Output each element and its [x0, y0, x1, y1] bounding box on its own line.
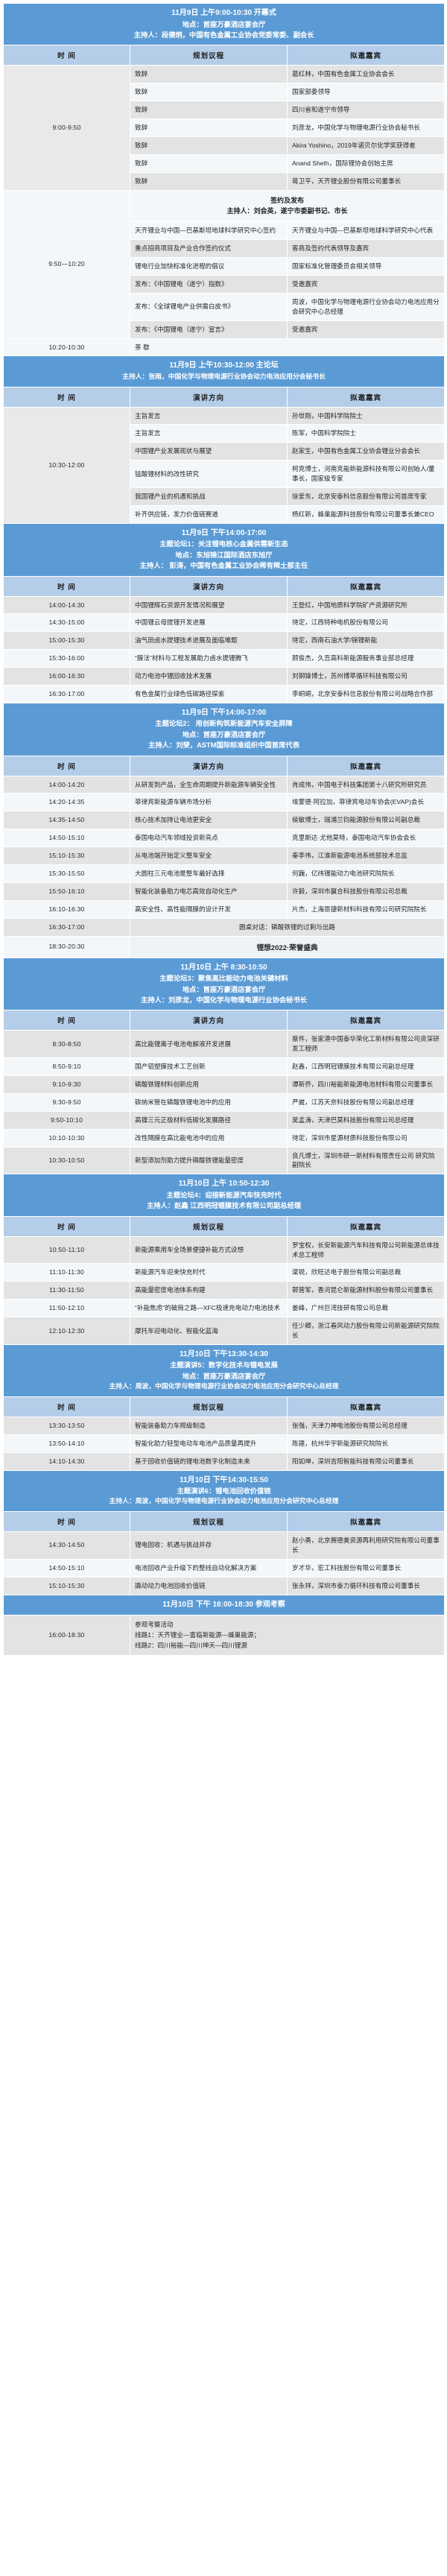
guest-name: 许毅，深圳市赢合科技股份有限公司总裁 [288, 882, 445, 900]
time-cell: 8:30-8:50 [4, 1031, 130, 1058]
table-row: 15:30-15:50大圆柱三元电池是整车最好选择何巍，亿纬锂能动力电池研究院院… [4, 865, 445, 883]
banner-line: 地点：东旭锦江国际酒店东旭厅 [8, 550, 440, 560]
table-row: 9:50—10:20签约及发布主持人：刘会英，遂宁市委副书记、市长 [4, 190, 445, 222]
guest-name: 阳如坤，深圳吉阳智能科技有限公司董事长 [288, 1452, 445, 1470]
banner-line: 主题演讲5：数字化技术与锂电发展 [8, 1360, 440, 1370]
agenda-item: 高安全性、高性能隔膜的设计开发 [130, 900, 288, 918]
banner-line: 11月9日 上午9:00-10:30 开幕式 [8, 7, 440, 19]
table-row: 13:30-13:50智能装备助力车规级制造张强，天津力神电池股份有限公司总经理 [4, 1417, 445, 1434]
section-banner: 11月10日 上午 10:50-12:30主题论坛4：迎接新能源汽车快充时代主持… [4, 1174, 445, 1216]
column-header: 规划议程 [130, 1396, 288, 1417]
table-row: 9:30-9:50碳纳米管在磷酸铁锂电池中的应用严崴，江苏天奈科技股份有限公司副… [4, 1093, 445, 1111]
sub-banner: 签约及发布主持人：刘会英，遂宁市委副书记、市长 [130, 190, 445, 222]
time-cell: 13:30-13:50 [4, 1417, 130, 1434]
agenda-item: 撬动动力电池回收价值链 [130, 1577, 288, 1595]
table-row: 14:10-14:30基于回收价值链的锂电池数字化制造未来阳如坤，深圳吉阳智能科… [4, 1452, 445, 1470]
time-cell: 12:10-12:30 [4, 1317, 130, 1345]
banner-line: 11月10日 下午13:30-14:30 [8, 1349, 440, 1361]
time-cell: 14:30-14:50 [4, 1532, 130, 1560]
guest-name: 国家标准化管理委员会相关领导 [288, 258, 445, 276]
agenda-item: 中国锂辉石资源开发情况和展望 [130, 596, 288, 614]
guest-name: 良凡博士，深圳市研一新材料有限责任公司 研究院副院长 [288, 1147, 445, 1174]
time-cell: 9:50-10:10 [4, 1111, 130, 1129]
agenda-item: 泰国电动汽车领域投资新亮点 [130, 829, 288, 847]
column-header: 时 间 [4, 1512, 130, 1532]
agenda-item: 补齐供应链，发力价值链赛道 [130, 505, 288, 523]
agenda-item: 高能量密度电池体系构建 [130, 1282, 288, 1300]
table-row: 10:50-11:10新能源乘用车全场景便捷补能方式设想罗宝权，长安新能源汽车科… [4, 1236, 445, 1264]
agenda-item: 致辞 [130, 118, 288, 136]
guest-name: 何巍，亿纬锂能动力电池研究院院长 [288, 865, 445, 883]
column-header: 演讲方向 [130, 1010, 288, 1031]
time-cell: 11:50-12:10 [4, 1300, 130, 1317]
time-cell: 10:20-10:30 [4, 338, 130, 356]
banner-line: 主持人：段德炳，中国有色金属工业协会党委常委、副会长 [8, 30, 440, 40]
guest-name: 待定，江西特种电机股份有限公司 [288, 614, 445, 632]
gala-title: 锂想2022·荣誉盛典 [130, 936, 445, 958]
agenda-item: 中国锂产业发展现状与展望 [130, 443, 288, 461]
banner-line: 主题论坛1：关注锂电核心金属供需新生态 [8, 539, 440, 549]
section-banner: 11月10日 上午 8:30-10:50主题论坛3：聚焦高比能动力电池关键材料地… [4, 958, 445, 1010]
guest-name: 蔡件，张家港中国泰华荣化工新材料有限公司资深研发工程师 [288, 1031, 445, 1058]
agenda-item: 新能源汽车迎来快充时代 [130, 1264, 288, 1282]
guest-name: 葛红林，中国有色金属工业协会会长 [288, 66, 445, 83]
agenda-item: 圆桌对话：磷酸铁锂的过剩与出路 [130, 918, 445, 936]
guest-name: 蒋卫平，天齐锂业股份有限公司董事长 [288, 172, 445, 190]
guest-name: 吴孟涛，天津巴莫科技股份有限公司总经理 [288, 1111, 445, 1129]
agenda-item: 致辞 [130, 154, 288, 172]
section-banner: 11月9日 下午14:00-17:00主题论坛1：关注锂电核心金属供需新生态地点… [4, 523, 445, 576]
guest-name: 罗宝权，长安新能源汽车科技有限公司新能源总体技术总工程师 [288, 1236, 445, 1264]
table-row: 15:10-15:30撬动动力电池回收价值链张永祥，深圳市泰力循环科技有限公司董… [4, 1577, 445, 1595]
table-row: 16:10-16:30高安全性、高性能隔膜的设计开发片杰，上海恩捷新材料科技有限… [4, 900, 445, 918]
time-cell: 10:30-12:00 [4, 407, 130, 523]
time-cell: 16:00-18:30 [4, 1615, 130, 1656]
agenda-item: 从研发到产品，全生命周期提升新能源车辆安全性 [130, 776, 288, 794]
column-header: 时 间 [4, 387, 130, 407]
table-row: 14:35-14:50核心技术加持让电池更安全侯敏博士，瑞浦兰钧能源股份有限公司… [4, 811, 445, 829]
time-cell: 15:10-15:30 [4, 847, 130, 865]
agenda-item: 重点招商项目及产业合作签约仪式 [130, 240, 288, 258]
agenda-item: 油气田卤水提锂技术进展及面临难题 [130, 632, 288, 650]
table-row: 10:10-10:30改性隔膜在高比能电池中的应用待定，深圳市星源材质科技股份有… [4, 1129, 445, 1147]
time-cell: 10:10-10:30 [4, 1129, 130, 1147]
guest-name: 周波，中国化学与物理电源行业协会动力电池应用分会研究中心总经理 [288, 293, 445, 320]
agenda-item: 菲律宾新能源车辆市场分析 [130, 794, 288, 811]
column-header: 时 间 [4, 45, 130, 66]
time-cell: 9:50—10:20 [4, 190, 130, 338]
guest-name: 姜峰，广州巨湾技研有限公司总裁 [288, 1300, 445, 1317]
table-row: 16:00-16:30动力电池中锂回收技术发展刘钢锋博士，苏州博萃循环科技有限公… [4, 668, 445, 686]
banner-line: 主题论坛2： 用创新构筑新能源汽车安全屏障 [8, 718, 440, 729]
table-row: 8:50-9:10国产铝塑膜技术工艺创新赵鑫，江西明冠锂膜技术有限公司副总经理 [4, 1058, 445, 1076]
time-cell: 16:00-16:30 [4, 668, 130, 686]
conference-agenda: 11月9日 上午9:00-10:30 开幕式地点：首座万豪酒店宴会厅主持人：段德… [0, 0, 447, 1657]
time-cell: 15:30-16:00 [4, 650, 130, 668]
banner-line: 主题论坛3：聚焦高比能动力电池关键材料 [8, 973, 440, 984]
time-cell: 8:50-9:10 [4, 1058, 130, 1076]
time-cell: 15:00-15:30 [4, 632, 130, 650]
banner-line: 11月10日 下午 16:00-18:30 参观考察 [8, 1599, 440, 1611]
time-cell: 14:35-14:50 [4, 811, 130, 829]
time-cell: 14:20-14:35 [4, 794, 130, 811]
table-row: 14:30-14:50锂电回收：机遇与挑战并存赵小勇，北京赛德美资源再利用研究院… [4, 1532, 445, 1560]
table-row: 13:50-14:10智能化助力轻型电动车电池产品质量再提升陈建，杭州华宇新能源… [4, 1434, 445, 1452]
banner-line: 地点：首座万豪酒店宴会厅 [8, 1371, 440, 1382]
agenda-item: 新型添加剂助力提升磷酸铁锂能量密度 [130, 1147, 288, 1174]
banner-line: 11月9日 上午10:30-12:00 主论坛 [8, 360, 440, 372]
agenda-item: 智能化助力轻型电动车电池产品质量再提升 [130, 1434, 288, 1452]
column-header: 演讲方向 [130, 756, 288, 776]
guest-name: 陈建，杭州华宇新能源研究院院长 [288, 1434, 445, 1452]
agenda-item: 摩托车迎电动化、智能化蓝海 [130, 1317, 288, 1345]
agenda-item: 致辞 [130, 172, 288, 190]
column-header: 规划议程 [130, 1216, 288, 1236]
guest-name: 待定，西南石油大学/锦锂新能 [288, 632, 445, 650]
agenda-item: 致辞 [130, 66, 288, 83]
guest-name: 天齐锂业与中国—巴基斯坦地球科学研究中心代表 [288, 222, 445, 240]
agenda-item: “膜法”材料与工程发展助力卤水提锂腾飞 [130, 650, 288, 668]
guest-name: 王登红，中国地质科学院矿产资源研究所 [288, 596, 445, 614]
section-banner: 11月10日 下午 16:00-18:30 参观考察 [4, 1595, 445, 1615]
time-cell: 14:30-15:00 [4, 614, 130, 632]
table-row: 15:30-16:00“膜法”材料与工程发展助力卤水提锂腾飞顾俊杰，久吾高科新能… [4, 650, 445, 668]
section-banner: 11月9日 上午9:00-10:30 开幕式地点：首座万豪酒店宴会厅主持人：段德… [4, 4, 445, 45]
banner-line: 主题论坛4：迎接新能源汽车快充时代 [8, 1190, 440, 1200]
column-header: 规划议程 [130, 1512, 288, 1532]
agenda-item: 发布：《中国锂电（遂宁）指数》 [130, 276, 288, 294]
agenda-item: 大圆柱三元电池是整车最好选择 [130, 865, 288, 883]
table-row: 16:00-18:30参观考察活动 线路1：天齐锂业—富临新能源—蜂巢能源； 线… [4, 1615, 445, 1656]
guest-name: 国家部委领导 [288, 83, 445, 101]
guest-name: Akira Yoshino，2019年诺贝尔化学奖获得者 [288, 136, 445, 154]
guest-name: 赵鑫，江西明冠锂膜技术有限公司副总经理 [288, 1058, 445, 1076]
guest-name: Anand Sheth，国际锂协会创始主席 [288, 154, 445, 172]
agenda-item: 高镍三元正极材料低碳化发展路径 [130, 1111, 288, 1129]
agenda-item: “补能焦虑”的破局之路—XFC极速充电动力电池技术 [130, 1300, 288, 1317]
time-cell: 18:30-20:30 [4, 936, 130, 958]
guest-name: 克里斯达·尤他莫特，泰国电动汽车协会会长 [288, 829, 445, 847]
agenda-item: 中国锂云母提锂开发进展 [130, 614, 288, 632]
guest-name: 顾俊杰，久吾高科新能源服务事业部总经理 [288, 650, 445, 668]
agenda-item: 发布：《全球锂电产业供需白皮书》 [130, 293, 288, 320]
column-header: 拟邀嘉宾 [288, 1216, 445, 1236]
table-row: 16:30-17:00圆桌对话：磷酸铁锂的过剩与出路 [4, 918, 445, 936]
column-header: 拟邀嘉宾 [288, 576, 445, 596]
banner-line: 11月9日 下午14:00-17:00 [8, 528, 440, 539]
guest-name: 受邀嘉宾 [288, 276, 445, 294]
agenda-item: 高比能锂离子电池电解液开发进展 [130, 1031, 288, 1058]
time-cell: 14:10-14:30 [4, 1452, 130, 1470]
column-header: 演讲方向 [130, 576, 288, 596]
table-row: 16:30-17:00有色金属行业绿色低碳路径探索李峒峒，北京安泰科信息股份有限… [4, 685, 445, 703]
banner-line: 地点：首座万豪酒店宴会厅 [8, 984, 440, 995]
banner-line: 主持人： 彭涛，中国有色金属工业协会稀有稀土部主任 [8, 560, 440, 571]
guest-name: 孙世刚，中国科学院院士 [288, 407, 445, 425]
guest-name: 赵家生，中国有色金属工业协会锂业分会会长 [288, 443, 445, 461]
guest-name: 杨红新，蜂巢能源科技股份有限公司董事长兼CEO [288, 505, 445, 523]
agenda-item: 电池回收产业升级下的整线自动化解决方案 [130, 1559, 288, 1577]
guest-name: 梁锐，欣旺达电子股份有限公司副总裁 [288, 1264, 445, 1282]
column-header: 拟邀嘉宾 [288, 1512, 445, 1532]
time-cell: 9:30-9:50 [4, 1093, 130, 1111]
agenda-item: 核心技术加持让电池更安全 [130, 811, 288, 829]
agenda-item: 磷酸铁锂材料创新应用 [130, 1076, 288, 1094]
column-header: 时 间 [4, 1216, 130, 1236]
guest-name: 秦李伟，江淮新能源电池系统部技术总监 [288, 847, 445, 865]
column-header: 拟邀嘉宾 [288, 1396, 445, 1417]
table-row: 14:50-15:10泰国电动汽车领域投资新亮点克里斯达·尤他莫特，泰国电动汽车… [4, 829, 445, 847]
banner-line: 主持人：张雨，中国化学与物理电源行业协会动力电池应用分会秘书长 [8, 372, 440, 382]
agenda-item: 基于回收价值链的锂电池数字化制造未来 [130, 1452, 288, 1470]
table-row: 11:30-11:50高能量密度电池体系构建郭营军，香河昆仑新能源材料股份有限公… [4, 1282, 445, 1300]
time-cell: 14:00-14:20 [4, 776, 130, 794]
column-header: 拟邀嘉宾 [288, 756, 445, 776]
agenda-item: 致辞 [130, 83, 288, 101]
section-banner: 11月10日 下午13:30-14:30主题演讲5：数字化技术与锂电发展地点：首… [4, 1344, 445, 1396]
agenda-item: 致辞 [130, 136, 288, 154]
guest-name: 待定，深圳市星源材质科技股份有限公司 [288, 1129, 445, 1147]
table-row: 12:10-12:30摩托车迎电动化、智能化蓝海任少卿，浙江春风动力股份有限公司… [4, 1317, 445, 1345]
time-cell: 15:30-15:50 [4, 865, 130, 883]
column-header: 规划议程 [130, 45, 288, 66]
sub-banner-line: 签约及发布 [133, 195, 441, 206]
time-cell: 14:50-15:10 [4, 829, 130, 847]
guest-name: 片杰，上海恩捷新材料科技有限公司研究院院长 [288, 900, 445, 918]
guest-name: 严崴，江苏天奈科技股份有限公司副总经理 [288, 1093, 445, 1111]
banner-line: 地点：首座万豪酒店宴会厅 [8, 730, 440, 740]
column-header: 拟邀嘉宾 [288, 45, 445, 66]
guest-name: 埃蒙德·阿拉加，菲律宾电动车协会(EVAP)会长 [288, 794, 445, 811]
banner-line: 主题演讲6：锂电池回收价值链 [8, 1486, 440, 1496]
guest-name: 任少卿，浙江春风动力股份有限公司新能源研究院院长 [288, 1317, 445, 1345]
banner-line: 11月10日 上午 10:50-12:30 [8, 1178, 440, 1190]
column-header: 时 间 [4, 576, 130, 596]
table-row: 14:50-15:10电池回收产业升级下的整线自动化解决方案岁才华，宏工科技股份… [4, 1559, 445, 1577]
column-header: 时 间 [4, 756, 130, 776]
table-row: 18:30-20:30锂想2022·荣誉盛典 [4, 936, 445, 958]
column-header: 时 间 [4, 1010, 130, 1031]
agenda-item: 致辞 [130, 101, 288, 119]
agenda-table: 11月9日 上午9:00-10:30 开幕式地点：首座万豪酒店宴会厅主持人：段德… [3, 3, 445, 1656]
guest-name: 徐爱东，北京安泰科信息股份有限公司首席专家 [288, 488, 445, 506]
guest-name: 肖成伟，中国电子科技集团第十八研究所研究员 [288, 776, 445, 794]
agenda-item: 主旨发言 [130, 407, 288, 425]
time-cell: 14:00-14:30 [4, 596, 130, 614]
table-row: 14:30-15:00中国锂云母提锂开发进展待定，江西特种电机股份有限公司 [4, 614, 445, 632]
time-cell: 13:50-14:10 [4, 1434, 130, 1452]
agenda-item: 茶 歇 [130, 338, 445, 356]
banner-line: 主持人：刘彦龙，中国化学与物理电源行业协会秘书长 [8, 995, 440, 1005]
time-cell: 16:30-17:00 [4, 685, 130, 703]
guest-name: 刘彦龙，中国化学与物理电源行业协会秘书长 [288, 118, 445, 136]
time-cell: 10:30-10:50 [4, 1147, 130, 1174]
guest-name: 张强，天津力神电池股份有限公司总经理 [288, 1417, 445, 1434]
section-banner: 11月10日 下午14:30-15:50主题演讲6：锂电池回收价值链主持人：周波… [4, 1470, 445, 1512]
banner-line: 主持人：赵鑫 江西明冠锂膜技术有限公司副总经理 [8, 1200, 440, 1211]
agenda-item: 改性隔膜在高比能电池中的应用 [130, 1129, 288, 1147]
table-row: 9:50-10:10高镍三元正极材料低碳化发展路径吴孟涛，天津巴莫科技股份有限公… [4, 1111, 445, 1129]
table-row: 11:50-12:10“补能焦虑”的破局之路—XFC极速充电动力电池技术姜峰，广… [4, 1300, 445, 1317]
table-row: 15:10-15:30从电池端开始定义整车安全秦李伟，江淮新能源电池系统部技术总… [4, 847, 445, 865]
table-row: 9:10-9:30磷酸铁锂材料创新应用谭新乔，四川裕能新能源电池材料有限公司董事… [4, 1076, 445, 1094]
guest-name: 岁才华，宏工科技股份有限公司董事长 [288, 1559, 445, 1577]
banner-line: 主持人：刘斐，ASTM国际标准组织中国首席代表 [8, 740, 440, 750]
time-cell: 14:50-15:10 [4, 1559, 130, 1577]
time-cell: 15:10-15:30 [4, 1577, 130, 1595]
guest-name: 李峒峒，北京安泰科信息股份有限公司战略合作部 [288, 685, 445, 703]
agenda-item: 锰酸锂材料的改性研究 [130, 461, 288, 488]
time-cell: 16:10-16:30 [4, 900, 130, 918]
time-cell: 16:30-17:00 [4, 918, 130, 936]
sub-banner-line: 主持人：刘会英，遂宁市委副书记、市长 [133, 206, 441, 216]
agenda-item: 主旨发言 [130, 425, 288, 443]
time-cell: 11:10-11:30 [4, 1264, 130, 1282]
column-header: 时 间 [4, 1396, 130, 1417]
time-cell: 15:50-16:10 [4, 882, 130, 900]
guest-name: 受邀嘉宾 [288, 320, 445, 338]
agenda-item: 国产铝塑膜技术工艺创新 [130, 1058, 288, 1076]
guest-name: 赵小勇，北京赛德美资源再利用研究院有限公司董事长 [288, 1532, 445, 1560]
column-header: 拟邀嘉宾 [288, 387, 445, 407]
guest-name: 陈军，中国科学院院士 [288, 425, 445, 443]
agenda-item: 有色金属行业绿色低碳路径探索 [130, 685, 288, 703]
guest-name: 郭营军，香河昆仑新能源材料股份有限公司董事长 [288, 1282, 445, 1300]
banner-line: 11月10日 下午14:30-15:50 [8, 1475, 440, 1487]
agenda-item: 碳纳米管在磷酸铁锂电池中的应用 [130, 1093, 288, 1111]
agenda-item: 参观考察活动 线路1：天齐锂业—富临新能源—蜂巢能源； 线路2：四川裕能—四川坤… [130, 1615, 445, 1656]
guest-name: 张永祥，深圳市泰力循环科技有限公司董事长 [288, 1577, 445, 1595]
time-cell: 10:50-11:10 [4, 1236, 130, 1264]
table-row: 11:10-11:30新能源汽车迎来快充时代梁锐，欣旺达电子股份有限公司副总裁 [4, 1264, 445, 1282]
agenda-item: 智能化装备助力电芯高效自动化生产 [130, 882, 288, 900]
agenda-item: 锂电行业加快标准化进程的倡议 [130, 258, 288, 276]
time-cell: 11:30-11:50 [4, 1282, 130, 1300]
time-cell: 9:00-9:50 [4, 66, 130, 190]
guest-name: 侯敏博士，瑞浦兰钧能源股份有限公司副总裁 [288, 811, 445, 829]
time-cell: 9:10-9:30 [4, 1076, 130, 1094]
banner-line: 主持人：周波，中国化学与物理电源行业协会动力电池应用分会研究中心总经理 [8, 1496, 440, 1507]
section-banner: 11月9日 下午14:00-17:00主题论坛2： 用创新构筑新能源汽车安全屏障… [4, 703, 445, 756]
banner-line: 主持人：周波，中国化学与物理电源行业协会动力电池应用分会研究中心总经理 [8, 1382, 440, 1392]
table-row: 14:00-14:20从研发到产品，全生命周期提升新能源车辆安全性肖成伟，中国电… [4, 776, 445, 794]
table-row: 15:50-16:10智能化装备助力电芯高效自动化生产许毅，深圳市赢合科技股份有… [4, 882, 445, 900]
section-banner: 11月9日 上午10:30-12:00 主论坛主持人：张雨，中国化学与物理电源行… [4, 356, 445, 387]
banner-line: 地点：首座万豪酒店宴会厅 [8, 19, 440, 30]
table-row: 8:30-8:50高比能锂离子电池电解液开发进展蔡件，张家港中国泰华荣化工新材料… [4, 1031, 445, 1058]
table-row: 10:20-10:30茶 歇 [4, 338, 445, 356]
table-row: 10:30-12:00主旨发言孙世刚，中国科学院院士 [4, 407, 445, 425]
agenda-item: 新能源乘用车全场景便捷补能方式设想 [130, 1236, 288, 1264]
banner-line: 11月10日 上午 8:30-10:50 [8, 962, 440, 974]
agenda-item: 锂电回收：机遇与挑战并存 [130, 1532, 288, 1560]
agenda-item: 智能装备助力车规级制造 [130, 1417, 288, 1434]
table-row: 15:00-15:30油气田卤水提锂技术进展及面临难题待定，西南石油大学/锦锂新… [4, 632, 445, 650]
column-header: 演讲方向 [130, 387, 288, 407]
table-row: 14:20-14:35菲律宾新能源车辆市场分析埃蒙德·阿拉加，菲律宾电动车协会(… [4, 794, 445, 811]
agenda-item: 发布：《中国锂电（遂宁）宣言》 [130, 320, 288, 338]
agenda-item: 动力电池中锂回收技术发展 [130, 668, 288, 686]
guest-name: 谭新乔，四川裕能新能源电池材料有限公司董事长 [288, 1076, 445, 1094]
guest-name: 柯克博士，河南克能新能源科技有限公司创始人/董事长，国家级专家 [288, 461, 445, 488]
agenda-item: 我国锂产业的机遇和挑战 [130, 488, 288, 506]
guest-name: 客商及签约代表领导及嘉宾 [288, 240, 445, 258]
table-row: 14:00-14:30中国锂辉石资源开发情况和展望王登红，中国地质科学院矿产资源… [4, 596, 445, 614]
column-header: 拟邀嘉宾 [288, 1010, 445, 1031]
table-row: 9:00-9:50致辞葛红林，中国有色金属工业协会会长 [4, 66, 445, 83]
guest-name: 四川省和遂宁市领导 [288, 101, 445, 119]
agenda-item: 天齐锂业与中国—巴基斯坦地球科学研究中心签约 [130, 222, 288, 240]
banner-line: 11月9日 下午14:00-17:00 [8, 707, 440, 719]
table-row: 10:30-10:50新型添加剂助力提升磷酸铁锂能量密度良凡博士，深圳市研一新材… [4, 1147, 445, 1174]
agenda-item: 从电池端开始定义整车安全 [130, 847, 288, 865]
guest-name: 刘钢锋博士，苏州博萃循环科技有限公司 [288, 668, 445, 686]
